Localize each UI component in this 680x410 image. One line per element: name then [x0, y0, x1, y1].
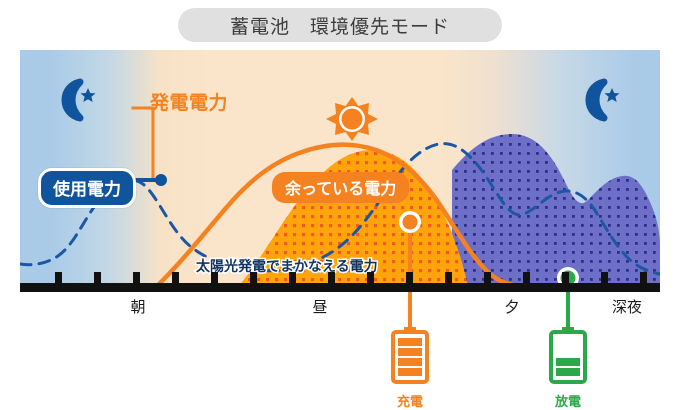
- axis-tick: [94, 272, 101, 284]
- discharge-label: 放電: [544, 391, 592, 410]
- usage-connector-dot: [155, 174, 167, 186]
- axis-label-morning: 朝: [130, 296, 145, 317]
- axis-tick: [523, 272, 530, 284]
- axis-tick: [328, 272, 335, 284]
- moon-star-icon-left: [65, 82, 96, 118]
- page-title: 蓄電池 環境優先モード: [178, 8, 502, 42]
- usage-label-badge: 使用電力: [38, 168, 136, 208]
- axis-tick: [406, 272, 413, 284]
- battery-half-icon: [548, 326, 588, 384]
- axis-tick: [484, 272, 491, 284]
- axis-tick: [289, 272, 296, 284]
- chart-canvas: 発電電力 使用電力 余っている電力 太陽光発電でまかなえる電力: [20, 50, 660, 287]
- moon-star-icon-right: [589, 82, 620, 118]
- sun-icon: [326, 97, 378, 141]
- axis-tick: [250, 272, 257, 284]
- generation-label: 発電電力: [150, 88, 228, 115]
- solar-covered-label: 太陽光発電でまかなえる電力: [196, 256, 378, 276]
- axis-tick: [640, 272, 647, 284]
- charge-marker: 充電: [386, 326, 434, 410]
- axis-tick: [562, 272, 569, 284]
- surplus-label-badge: 余っている電力: [272, 172, 409, 203]
- axis-label-noon: 昼: [312, 296, 327, 317]
- axis-tick: [55, 272, 62, 284]
- axis-tick: [133, 272, 140, 284]
- axis-tick: [211, 272, 218, 284]
- axis-label-late-night: 深夜: [612, 296, 642, 317]
- axis-tick: [172, 272, 179, 284]
- diagram-root: 蓄電池 環境優先モード: [0, 0, 680, 400]
- axis-tick: [445, 272, 452, 284]
- charge-label: 充電: [386, 391, 434, 410]
- time-axis: [20, 283, 660, 292]
- battery-full-icon: [390, 326, 430, 384]
- axis-label-evening: 夕: [504, 296, 519, 317]
- generation-leader-line: [133, 108, 153, 178]
- axis-tick: [367, 272, 374, 284]
- axis-tick: [601, 272, 608, 284]
- discharge-marker: 放電: [544, 326, 592, 410]
